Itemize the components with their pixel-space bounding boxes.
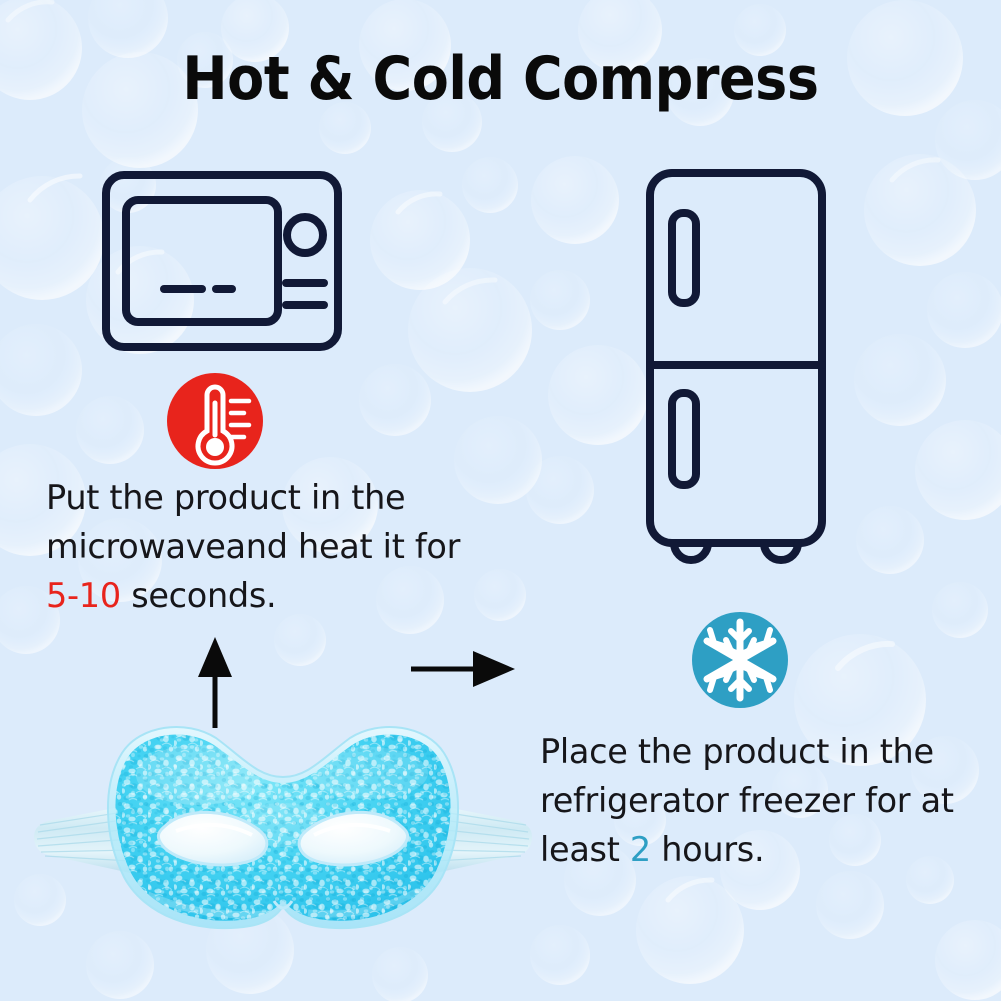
cold-duration-value: 2	[630, 830, 651, 869]
hot-instruction-text: Put the product in the microwaveand heat…	[46, 473, 466, 620]
arrow-right-icon	[405, 645, 520, 693]
cold-instruction-text: Place the product in the refrigerator fr…	[540, 727, 980, 874]
snowflake-icon	[690, 610, 790, 710]
microwave-icon	[98, 165, 348, 365]
hot-text-after: seconds.	[121, 576, 277, 615]
infographic-canvas: Hot & Cold Compress	[0, 0, 1001, 1001]
hot-text-before: Put the product in the microwaveand heat…	[46, 478, 460, 566]
thermometer-icon	[166, 373, 266, 471]
refrigerator-icon	[628, 165, 843, 575]
gel-eye-mask	[18, 705, 548, 975]
hot-duration-value: 5-10	[46, 576, 121, 615]
cold-text-after: hours.	[651, 830, 764, 869]
page-title: Hot & Cold Compress	[50, 44, 951, 114]
